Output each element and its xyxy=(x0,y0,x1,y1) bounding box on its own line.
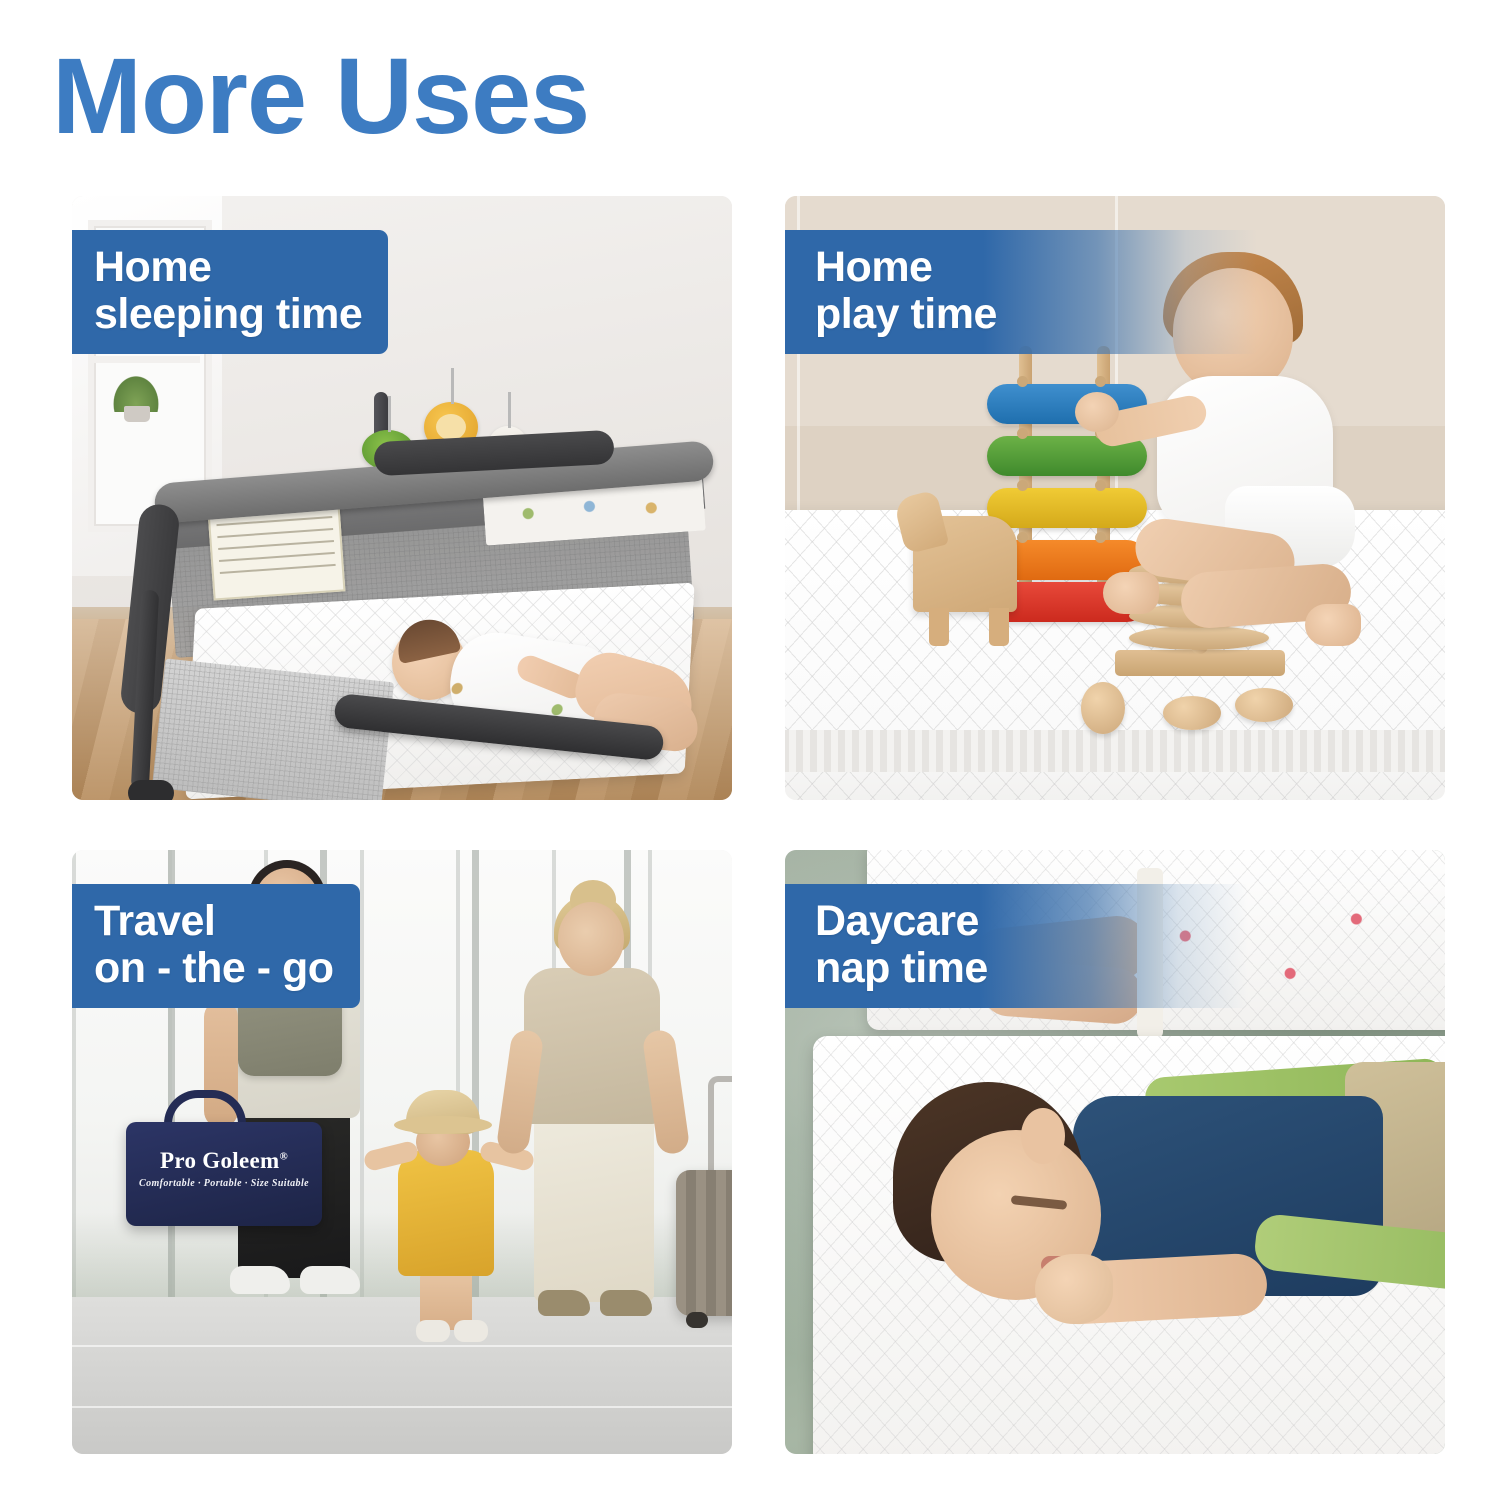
front-child-hand xyxy=(1035,1254,1113,1324)
wooden-ring-flat-2 xyxy=(1235,688,1293,722)
crib-wheel xyxy=(128,780,174,800)
mattress-edge-trim xyxy=(785,730,1445,772)
toy-rung-yellow xyxy=(987,488,1147,528)
toddler-foot-second xyxy=(1305,604,1361,646)
use-case-card-home-play-time[interactable]: Home play time xyxy=(785,196,1445,800)
page-title: More Uses xyxy=(52,42,589,150)
card-badge-travel-on-the-go: Travel on - the - go xyxy=(72,884,360,1008)
mother-shoe-second xyxy=(600,1290,652,1316)
suitcase-wheel xyxy=(686,1312,708,1328)
wooden-ring-flat xyxy=(1163,696,1221,730)
card-badge-home-play-time: Home play time xyxy=(785,230,1257,354)
brand-name: Pro Goleem xyxy=(160,1148,279,1173)
wooden-horse-toy xyxy=(913,516,1017,612)
mother-shoe xyxy=(538,1290,590,1316)
front-child-ear xyxy=(1021,1108,1065,1164)
terminal-floor xyxy=(72,1297,732,1454)
trademark-symbol: ® xyxy=(279,1150,288,1162)
card-badge-home-sleeping-time: Home sleeping time xyxy=(72,230,388,354)
travel-bag-brand-label: Pro Goleem® xyxy=(126,1148,322,1174)
toddler-hand xyxy=(1075,392,1119,432)
travel-bag: Pro Goleem® Comfortable · Portable · Siz… xyxy=(126,1122,322,1226)
girl-yellow-dress xyxy=(398,1150,494,1276)
suitcase xyxy=(676,1170,732,1316)
playard-crib xyxy=(124,420,724,800)
father-shoe-second xyxy=(300,1266,360,1294)
window-bar xyxy=(88,356,200,363)
father-shoe xyxy=(230,1266,290,1294)
suitcase-handle xyxy=(708,1076,732,1178)
mother-top xyxy=(524,968,660,1124)
use-case-card-home-sleeping-time[interactable]: Home sleeping time xyxy=(72,196,732,800)
girl-shoe-second xyxy=(454,1320,488,1342)
wooden-ball xyxy=(1081,682,1125,734)
mother-head xyxy=(558,902,624,976)
card-badge-daycare-nap-time: Daycare nap time xyxy=(785,884,1248,1008)
travel-bag-tagline: Comfortable · Portable · Size Suitable xyxy=(126,1178,322,1189)
girl-straw-hat xyxy=(406,1090,480,1134)
use-case-grid: Home sleeping time xyxy=(72,196,1445,1454)
use-case-card-travel-on-the-go[interactable]: Pro Goleem® Comfortable · Portable · Siz… xyxy=(72,850,732,1454)
mother-trousers xyxy=(534,1112,654,1302)
use-case-card-daycare-nap-time[interactable]: Daycare nap time xyxy=(785,850,1445,1454)
toddler-foot xyxy=(1103,572,1159,614)
girl-shoe xyxy=(416,1320,450,1342)
